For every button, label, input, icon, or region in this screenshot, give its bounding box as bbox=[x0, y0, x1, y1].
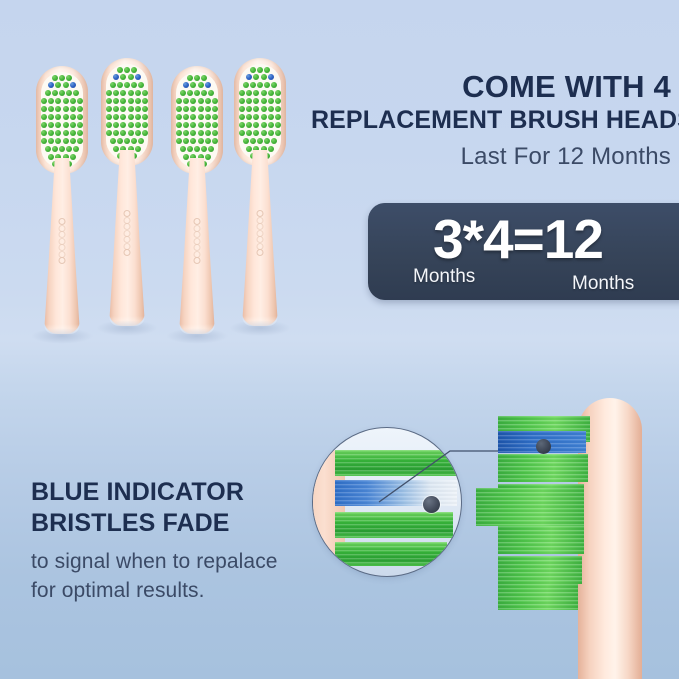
bristle-dot bbox=[239, 98, 245, 104]
bristle-field bbox=[176, 72, 218, 168]
indicator-bristle-dot bbox=[113, 74, 119, 80]
bristle-dot bbox=[271, 82, 277, 88]
bristle-dot bbox=[70, 130, 76, 136]
bristle-dot bbox=[59, 90, 65, 96]
bristle-dot bbox=[120, 98, 126, 104]
bristle-dot bbox=[135, 114, 141, 120]
bristle-dot bbox=[205, 114, 211, 120]
bristle-dot bbox=[261, 98, 267, 104]
bristle-dot bbox=[180, 90, 186, 96]
bristle-dot bbox=[117, 138, 123, 144]
bristle-dot bbox=[142, 106, 148, 112]
bristle-dot bbox=[246, 90, 252, 96]
brush-head-4 bbox=[231, 58, 289, 326]
bristle-dot bbox=[41, 106, 47, 112]
brush-head-logo bbox=[190, 218, 204, 264]
brush-shadow bbox=[229, 320, 291, 336]
bristle-dot bbox=[243, 82, 249, 88]
bristle-dot bbox=[70, 98, 76, 104]
bristle-dot bbox=[201, 75, 207, 81]
bristle-dot bbox=[77, 122, 83, 128]
bristle-dot bbox=[253, 114, 259, 120]
bristle-dot bbox=[55, 130, 61, 136]
bristle-dot bbox=[106, 130, 112, 136]
bristle-dot bbox=[66, 90, 72, 96]
bristle-dot bbox=[212, 114, 218, 120]
bristle-dot bbox=[198, 98, 204, 104]
bristle-dot bbox=[275, 130, 281, 136]
bristle-dot bbox=[63, 98, 69, 104]
brush-head-1 bbox=[33, 66, 91, 334]
bristle-dot bbox=[45, 90, 51, 96]
bristle-dot bbox=[70, 114, 76, 120]
brush-head-3 bbox=[168, 66, 226, 334]
bristle-dot bbox=[113, 106, 119, 112]
bristle-dot bbox=[41, 138, 47, 144]
bristle-dot bbox=[48, 106, 54, 112]
bristle-dot bbox=[264, 67, 270, 73]
bristle-dot bbox=[264, 82, 270, 88]
bristle-dot bbox=[257, 67, 263, 73]
bristle-dot bbox=[113, 146, 119, 152]
bristle-dot bbox=[128, 106, 134, 112]
bristle-dot bbox=[205, 98, 211, 104]
bristle-dot bbox=[176, 98, 182, 104]
bristle-dot bbox=[52, 146, 58, 152]
bristle-dot bbox=[128, 90, 134, 96]
bottom-headline-line2: BRISTLES FADE bbox=[31, 508, 331, 539]
bristle-row-4 bbox=[476, 488, 584, 526]
magnified-bristle-band-2 bbox=[335, 512, 453, 538]
equation-text: 3*4=12 bbox=[368, 212, 668, 267]
bristle-dot bbox=[117, 82, 123, 88]
bristle-dot bbox=[183, 154, 189, 160]
headline-primary: COME WITH 4 bbox=[311, 70, 671, 103]
bristle-dot bbox=[208, 90, 214, 96]
bristle-dot bbox=[253, 122, 259, 128]
bristle-dot bbox=[113, 90, 119, 96]
bristle-dot bbox=[239, 106, 245, 112]
indicator-bristle-dot bbox=[183, 82, 189, 88]
bristle-dot bbox=[70, 138, 76, 144]
bristle-dot bbox=[120, 74, 126, 80]
bristle-dot bbox=[201, 146, 207, 152]
bristle-dot bbox=[190, 98, 196, 104]
bristle-dot bbox=[257, 138, 263, 144]
bristle-dot bbox=[194, 75, 200, 81]
bristle-dot bbox=[128, 122, 134, 128]
bristle-dot bbox=[128, 114, 134, 120]
bristle-row-7 bbox=[498, 584, 578, 610]
bristle-dot bbox=[194, 146, 200, 152]
bristle-dot bbox=[261, 114, 267, 120]
bristle-dot bbox=[55, 82, 61, 88]
bristle-dot bbox=[113, 98, 119, 104]
bristle-dot bbox=[205, 130, 211, 136]
magnified-bristle-band-1 bbox=[335, 450, 462, 476]
headline-secondary: REPLACEMENT BRUSH HEADS bbox=[311, 106, 671, 136]
bristle-dot bbox=[142, 114, 148, 120]
bristle-dot bbox=[190, 122, 196, 128]
bristle-dot bbox=[268, 114, 274, 120]
bristle-dot bbox=[201, 90, 207, 96]
bristle-dot bbox=[190, 138, 196, 144]
bristle-dot bbox=[257, 82, 263, 88]
bristle-dot bbox=[120, 122, 126, 128]
bristle-dot bbox=[198, 106, 204, 112]
bristle-dot bbox=[55, 98, 61, 104]
bristle-dot bbox=[253, 74, 259, 80]
bristle-dot bbox=[271, 138, 277, 144]
bristle-dot bbox=[275, 90, 281, 96]
bristle-dot bbox=[239, 114, 245, 120]
bristle-dot bbox=[205, 106, 211, 112]
bristle-dot bbox=[77, 130, 83, 136]
indicator-bristle-dot bbox=[246, 74, 252, 80]
bristle-dot bbox=[66, 75, 72, 81]
magnified-bristle-band-3 bbox=[335, 542, 447, 566]
bristle-dot bbox=[183, 130, 189, 136]
bristle-dot bbox=[45, 146, 51, 152]
bristle-dot bbox=[52, 90, 58, 96]
bristle-dot bbox=[205, 138, 211, 144]
brush-head-logo bbox=[253, 210, 267, 256]
bristle-dot bbox=[131, 82, 137, 88]
bristle-dot bbox=[205, 154, 211, 160]
bristle-dot bbox=[268, 122, 274, 128]
bristle-dot bbox=[205, 122, 211, 128]
toothbrush-head-side-view bbox=[470, 398, 679, 679]
bristle-dot bbox=[110, 138, 116, 144]
bristle-dot bbox=[190, 114, 196, 120]
bristle-dot bbox=[135, 130, 141, 136]
months-equation-badge: 3*4=12 Months Months bbox=[368, 203, 679, 300]
indicator-marker-dot bbox=[536, 439, 551, 454]
bristle-dot bbox=[120, 130, 126, 136]
bristle-dot bbox=[128, 98, 134, 104]
bristle-dot bbox=[113, 122, 119, 128]
bristle-dot bbox=[41, 114, 47, 120]
bristle-dot bbox=[52, 75, 58, 81]
bristle-dot bbox=[63, 82, 69, 88]
bristle-dot bbox=[253, 106, 259, 112]
bristle-dot bbox=[253, 130, 259, 136]
bristle-dot bbox=[41, 98, 47, 104]
bristle-dot bbox=[113, 130, 119, 136]
bristle-dot bbox=[48, 122, 54, 128]
bristle-dot bbox=[187, 75, 193, 81]
bristle-dot bbox=[212, 98, 218, 104]
bottom-body-line1: to signal when to repalace bbox=[31, 548, 331, 575]
bristle-dot bbox=[117, 67, 123, 73]
indicator-bristle-dot bbox=[48, 82, 54, 88]
brush-head-logo bbox=[55, 218, 69, 264]
bristle-dot bbox=[212, 122, 218, 128]
bristle-dot bbox=[135, 90, 141, 96]
bristle-dot bbox=[138, 138, 144, 144]
bristle-dot bbox=[131, 67, 137, 73]
bristle-dot bbox=[128, 130, 134, 136]
bristle-dot bbox=[246, 122, 252, 128]
bristle-dot bbox=[275, 98, 281, 104]
bristle-dot bbox=[41, 122, 47, 128]
bristle-dot bbox=[275, 122, 281, 128]
bristle-dot bbox=[212, 106, 218, 112]
brush-heads-group bbox=[0, 0, 330, 355]
bristle-dot bbox=[187, 90, 193, 96]
bristle-dot bbox=[253, 98, 259, 104]
bristle-dot bbox=[176, 106, 182, 112]
indicator-bristle-dot bbox=[205, 82, 211, 88]
brush-shadow bbox=[31, 328, 93, 344]
bristle-dot bbox=[261, 106, 267, 112]
bristle-dot bbox=[41, 130, 47, 136]
bristle-field bbox=[41, 72, 83, 168]
bristle-dot bbox=[77, 138, 83, 144]
bristle-dot bbox=[275, 106, 281, 112]
bristle-dot bbox=[243, 138, 249, 144]
bristle-dot bbox=[113, 114, 119, 120]
bristle-dot bbox=[106, 98, 112, 104]
bristle-field bbox=[239, 64, 281, 160]
badge-label-left: Months bbox=[413, 266, 475, 288]
bristle-dot bbox=[142, 122, 148, 128]
indicator-marker-dot bbox=[423, 496, 440, 513]
badge-label-right: Months bbox=[572, 273, 634, 295]
bristle-dot bbox=[275, 114, 281, 120]
bristle-dot bbox=[176, 130, 182, 136]
bristle-dot bbox=[135, 98, 141, 104]
bristle-row-6 bbox=[498, 556, 582, 584]
bristle-dot bbox=[135, 146, 141, 152]
bristle-dot bbox=[250, 138, 256, 144]
bristle-dot bbox=[187, 146, 193, 152]
bristle-dot bbox=[183, 122, 189, 128]
bristle-dot bbox=[190, 130, 196, 136]
brush-shadow bbox=[166, 328, 228, 344]
bristle-row-5 bbox=[498, 526, 584, 554]
bristle-dot bbox=[246, 114, 252, 120]
bristle-dot bbox=[239, 90, 245, 96]
bristle-dot bbox=[124, 138, 130, 144]
bristle-dot bbox=[198, 82, 204, 88]
bristle-dot bbox=[198, 138, 204, 144]
bristle-dot bbox=[55, 138, 61, 144]
bristle-dot bbox=[77, 106, 83, 112]
bristle-dot bbox=[268, 146, 274, 152]
bristle-dot bbox=[55, 122, 61, 128]
bristle-dot bbox=[70, 122, 76, 128]
bottom-headline-line1: BLUE INDICATOR bbox=[31, 477, 331, 508]
bristle-dot bbox=[180, 146, 186, 152]
bristle-dot bbox=[135, 106, 141, 112]
bristle-dot bbox=[48, 114, 54, 120]
bristle-dot bbox=[261, 130, 267, 136]
brush-head-2 bbox=[98, 58, 156, 326]
indicator-bristle-dot bbox=[135, 74, 141, 80]
bristle-dot bbox=[183, 138, 189, 144]
bristle-closeup-magnifier bbox=[312, 427, 462, 577]
bristle-dot bbox=[73, 90, 79, 96]
bristle-dot bbox=[268, 106, 274, 112]
bristle-dot bbox=[73, 146, 79, 152]
bristle-dot bbox=[120, 90, 126, 96]
bristle-head-oval bbox=[171, 66, 223, 174]
bristle-dot bbox=[176, 114, 182, 120]
bristle-dot bbox=[135, 122, 141, 128]
indicator-bristle-dot bbox=[268, 74, 274, 80]
bristle-dot bbox=[106, 122, 112, 128]
bristle-dot bbox=[253, 90, 259, 96]
bristle-dot bbox=[261, 90, 267, 96]
bristle-dot bbox=[212, 138, 218, 144]
bristle-head-oval bbox=[234, 58, 286, 166]
bristle-dot bbox=[176, 138, 182, 144]
bristle-dot bbox=[55, 114, 61, 120]
bristle-dot bbox=[131, 138, 137, 144]
bristle-dot bbox=[70, 154, 76, 160]
bristle-dot bbox=[239, 130, 245, 136]
bristle-dot bbox=[77, 98, 83, 104]
bristle-dot bbox=[198, 114, 204, 120]
bristle-dot bbox=[55, 106, 61, 112]
bristle-field bbox=[106, 64, 148, 160]
bristle-dot bbox=[239, 122, 245, 128]
bristle-dot bbox=[250, 67, 256, 73]
bristle-dot bbox=[246, 106, 252, 112]
bristle-dot bbox=[198, 130, 204, 136]
bristle-dot bbox=[63, 138, 69, 144]
bristle-dot bbox=[246, 98, 252, 104]
bristle-head-oval bbox=[36, 66, 88, 174]
bristle-dot bbox=[142, 98, 148, 104]
bristle-dot bbox=[264, 138, 270, 144]
bristle-dot bbox=[59, 146, 65, 152]
bristle-dot bbox=[268, 130, 274, 136]
infographic-page: COME WITH 4 REPLACEMENT BRUSH HEADS Last… bbox=[0, 0, 679, 679]
bristle-dot bbox=[120, 106, 126, 112]
bristle-dot bbox=[183, 98, 189, 104]
bristle-dot bbox=[66, 146, 72, 152]
bristle-dot bbox=[176, 122, 182, 128]
bristle-dot bbox=[190, 106, 196, 112]
bristle-dot bbox=[63, 122, 69, 128]
bristle-dot bbox=[70, 106, 76, 112]
brush-head-logo bbox=[120, 210, 134, 256]
bristle-dot bbox=[106, 114, 112, 120]
bristle-dot bbox=[77, 114, 83, 120]
bristle-dot bbox=[208, 146, 214, 152]
indicator-bristle-dot bbox=[70, 82, 76, 88]
bristle-dot bbox=[268, 98, 274, 104]
bristle-dot bbox=[142, 90, 148, 96]
headline-subtitle: Last For 12 Months bbox=[311, 143, 671, 172]
bristle-dot bbox=[63, 114, 69, 120]
bristle-dot bbox=[48, 98, 54, 104]
bottom-body-line2: for optimal results. bbox=[31, 577, 331, 604]
bristle-dot bbox=[106, 106, 112, 112]
bristle-dot bbox=[142, 130, 148, 136]
bristle-dot bbox=[48, 138, 54, 144]
bristle-dot bbox=[194, 90, 200, 96]
bristle-dot bbox=[268, 90, 274, 96]
bristle-dot bbox=[261, 122, 267, 128]
bristle-dot bbox=[63, 130, 69, 136]
top-copy-block: COME WITH 4 REPLACEMENT BRUSH HEADS Last… bbox=[311, 70, 671, 172]
bristle-dot bbox=[261, 74, 267, 80]
bristle-dot bbox=[183, 114, 189, 120]
bristle-dot bbox=[124, 82, 130, 88]
bristle-dot bbox=[120, 114, 126, 120]
bristle-dot bbox=[138, 82, 144, 88]
bristle-dot bbox=[183, 106, 189, 112]
bristle-dot bbox=[106, 90, 112, 96]
bristle-dot bbox=[128, 74, 134, 80]
bristle-dot bbox=[48, 130, 54, 136]
bristle-dot bbox=[190, 82, 196, 88]
bristle-dot bbox=[48, 154, 54, 160]
bristle-dot bbox=[63, 106, 69, 112]
bristle-dot bbox=[124, 67, 130, 73]
bristle-head-oval bbox=[101, 58, 153, 166]
bottom-copy-block: BLUE INDICATOR BRISTLES FADE to signal w… bbox=[31, 477, 331, 605]
bristle-dot bbox=[246, 146, 252, 152]
bristle-row-2 bbox=[498, 454, 588, 482]
bristle-dot bbox=[198, 122, 204, 128]
brush-shadow bbox=[96, 320, 158, 336]
bristle-dot bbox=[246, 130, 252, 136]
bristle-dot bbox=[212, 130, 218, 136]
bristle-dot bbox=[59, 75, 65, 81]
bristle-dot bbox=[110, 82, 116, 88]
bristle-dot bbox=[250, 82, 256, 88]
